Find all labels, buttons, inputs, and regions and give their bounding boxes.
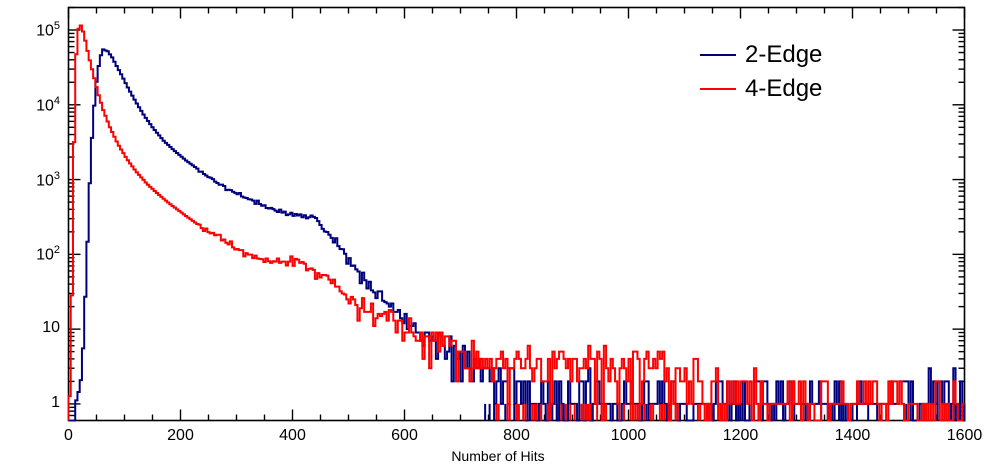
x-tick-label: 1200: [701, 427, 781, 445]
x-tick-label: 1400: [813, 427, 893, 445]
legend-swatch-2-edge: [700, 54, 736, 56]
series-4-edge-tail-spikes: [496, 404, 727, 421]
x-tick-label: 600: [365, 427, 445, 445]
y-tick-label: 105: [8, 20, 60, 40]
chart-root: Number of Hits 2-Edge 4-Edge 02004006008…: [0, 0, 996, 472]
x-tick-label: 0: [29, 427, 109, 445]
x-tick-label: 1600: [925, 427, 996, 445]
y-tick-label: 102: [8, 244, 60, 264]
y-tick-label: 1: [8, 394, 60, 412]
x-tick-label: 800: [477, 427, 557, 445]
y-tick-label: 10: [8, 319, 60, 337]
x-axis-title: Number of Hits: [0, 448, 996, 464]
legend-item-2-edge[interactable]: 2-Edge: [700, 38, 940, 72]
legend-label-2-edge: 2-Edge: [745, 43, 822, 67]
legend-item-4-edge[interactable]: 4-Edge: [700, 72, 940, 106]
legend-label-4-edge: 4-Edge: [745, 77, 822, 101]
x-tick-label: 400: [253, 427, 333, 445]
legend: 2-Edge 4-Edge: [700, 38, 940, 106]
legend-swatch-4-edge: [700, 88, 736, 90]
x-tick-label: 1000: [589, 427, 669, 445]
y-tick-label: 103: [8, 170, 60, 190]
y-tick-label: 104: [8, 95, 60, 115]
x-tick-label: 200: [141, 427, 221, 445]
